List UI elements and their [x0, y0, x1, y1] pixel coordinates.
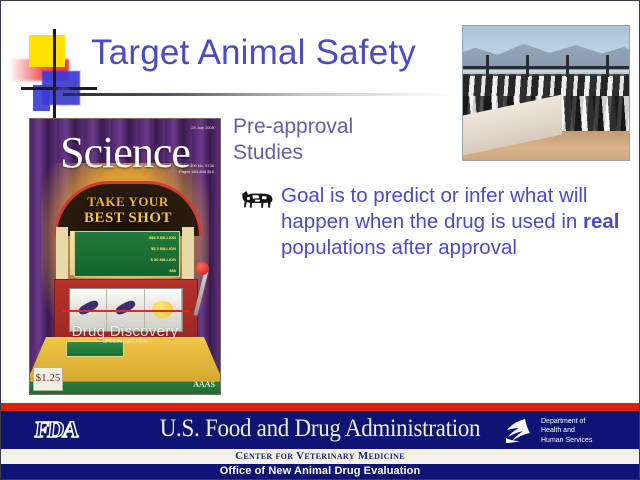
cover-publisher-logo: AAAS [193, 380, 215, 389]
goal-text-tail: populations after approval [281, 236, 517, 259]
fda-footer: FDA U.S. Food and Drug Administration De… [1, 403, 639, 479]
cover-feature-title: Drug Discovery [30, 323, 220, 340]
cover-price: $1.25 [33, 367, 63, 391]
cover-slot-lever-knob [196, 262, 209, 275]
photo-rail-post [566, 55, 569, 76]
hhs-line-2: Health and [541, 426, 592, 435]
goal-text-emphasis: real [583, 210, 619, 233]
photo-rail-post [486, 55, 489, 76]
photo-rail-post [526, 55, 529, 76]
cover-payout-row: $ 50 MILLION [151, 257, 176, 262]
cover-payout-row: $$ 2 BILLION [151, 246, 176, 251]
slide-canvas: Target Animal Safety 29 July 2005 Scienc… [0, 0, 640, 480]
cover-arch-line2: BEST SHOT [57, 210, 199, 227]
cow-icon [239, 189, 275, 209]
subheading-pre-approval-studies: Pre-approvalStudies [233, 114, 463, 165]
hhs-block: Department of Health and Human Services [503, 416, 631, 446]
hhs-eagle-icon [503, 418, 537, 444]
cover-payout-row: $$$ [169, 268, 176, 273]
bullet-block: Goal is to predict or infer what will ha… [239, 183, 635, 260]
cover-payout-row: $$$ 5 BILLION [149, 235, 176, 240]
footer-agency-band: FDA U.S. Food and Drug Administration De… [1, 411, 639, 449]
science-magazine-cover: 29 July 2005 Science Vol. 309 No. 5736Pa… [29, 118, 221, 395]
dairy-cows-photo [462, 25, 630, 161]
hhs-line-1: Department of [541, 417, 592, 426]
logo-vertical-line [53, 29, 56, 119]
slide-title: Target Animal Safety [91, 33, 471, 73]
cover-volume-line: Vol. 309 No. 5736Pages 653-836 $10 [158, 163, 214, 176]
title-divider-rule [63, 93, 453, 96]
cover-payout-board: $$$ 5 BILLION $$ 2 BILLION $ 50 MILLION … [74, 231, 180, 277]
goal-text-lead: Goal is to predict or infer what will ha… [281, 184, 587, 233]
hhs-department-text: Department of Health and Human Services [541, 417, 592, 445]
cover-arch-line1: TAKE YOUR [57, 194, 199, 210]
cover-feature-subtitle: SPECIAL SECTION [30, 339, 220, 345]
hhs-line-3: Human Services [541, 436, 592, 445]
goal-statement-text: Goal is to predict or infer what will ha… [281, 183, 635, 260]
cover-reel-pill-symbol [114, 299, 137, 317]
logo-yellow-square [29, 35, 65, 67]
decorative-logo-mark [15, 29, 97, 119]
cover-reel-pill-symbol [77, 299, 100, 317]
center-name-band: Center for Veterinary Medicine [1, 449, 639, 464]
office-name-band: Office of New Animal Drug Evaluation [1, 464, 639, 479]
cover-payline [63, 310, 189, 312]
photo-rail-post [606, 55, 609, 76]
footer-red-bar [1, 403, 639, 411]
